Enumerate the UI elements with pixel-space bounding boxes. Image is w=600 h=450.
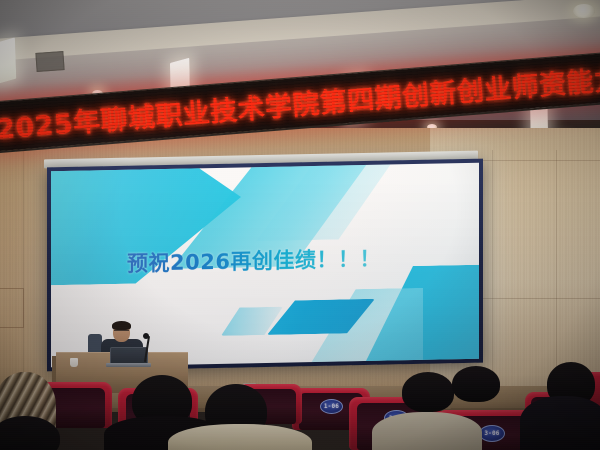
audience-head: [452, 366, 500, 402]
audience-shoulders: [520, 396, 600, 450]
wall-seam: [556, 150, 557, 400]
presenter-water-cup: [70, 358, 78, 367]
ceiling-panel-light: [0, 37, 16, 84]
ceiling-downlight: [573, 4, 595, 18]
wall-access-panel: [0, 288, 24, 328]
audience-shoulders: [168, 424, 312, 450]
ceiling-vent: [35, 51, 64, 72]
presenter-hair: [112, 321, 131, 330]
slide-title-text: 预祝2026再创佳绩！！！: [127, 243, 381, 278]
wall-seam: [492, 150, 493, 400]
seat-number-badge: 3-06: [479, 425, 505, 442]
presenter-microphone-head: [143, 333, 149, 339]
presenter-glasses: [114, 330, 129, 335]
seat-number-badge: 1-06: [320, 399, 343, 414]
auditorium-photo: 2025年聊城职业技术学院第四期创新创业师资能力提升培训班 预祝2026再创佳绩…: [0, 0, 600, 450]
audience-shoulders: [372, 412, 482, 450]
wall-seam: [23, 140, 24, 390]
presenter-laptop-base: [106, 363, 151, 367]
audience-head: [402, 372, 454, 412]
